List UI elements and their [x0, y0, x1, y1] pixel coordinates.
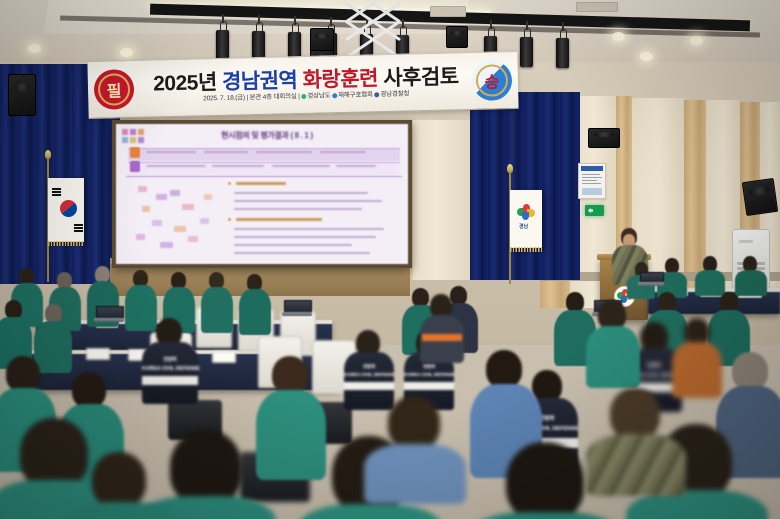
wall-speaker — [742, 178, 778, 216]
wall-speaker — [8, 74, 36, 116]
slide-logo — [122, 129, 152, 145]
vest-label-en: KOREA CIVIL DEFENSE — [142, 366, 198, 372]
wall-panel-light — [404, 120, 470, 280]
banner-org-2: 재해구호협회 — [338, 91, 373, 99]
banner-org-1: 경상남도 — [307, 92, 330, 100]
exit-sign-icon — [585, 205, 604, 216]
wall-speaker — [588, 128, 620, 148]
ceiling-vent — [430, 6, 466, 17]
banner-org-3: 경남경찰청 — [380, 90, 409, 98]
screenshot-root: 필 승 2025년 경남권역 화랑훈련 사후검토 2025. 7. 18.(금)… — [0, 0, 780, 519]
laptop — [640, 272, 662, 286]
downlight — [612, 32, 625, 41]
vest-label-ko: 민방위 — [344, 364, 394, 370]
projection-screen-frame: 현시점의 및 평가결과 ( II . 1 ) — [112, 120, 412, 268]
notice-header — [581, 166, 603, 171]
laptop — [284, 300, 310, 316]
vest-label-ko: 민방위 — [404, 364, 454, 370]
stage-light — [520, 37, 533, 67]
downlight — [690, 36, 703, 45]
vest-label-en: KOREA CIVIL DEFENSE — [344, 373, 394, 378]
ceiling-speaker — [310, 28, 334, 52]
event-banner: 필 승 2025년 경남권역 화랑훈련 사후검토 2025. 7. 18.(금)… — [87, 51, 518, 119]
ceiling-speaker — [446, 26, 468, 48]
slide-title: 현시점의 및 평가결과 ( II . 1 ) — [166, 130, 368, 141]
seal-pil: 필 — [94, 69, 135, 110]
wall-notice — [578, 163, 606, 199]
vest-label-ko: 민방위 — [142, 356, 198, 363]
banner-subtitle-text: 2025. 7. 18.(금) | 본관 4층 대회의실 | — [203, 93, 300, 102]
nameplate — [86, 348, 110, 360]
stage-light — [556, 38, 569, 68]
ceiling-vent — [576, 2, 618, 12]
downlight — [28, 44, 41, 53]
downlight — [640, 52, 653, 61]
seal-pil-char: 필 — [94, 69, 135, 110]
nameplate — [212, 351, 236, 363]
stage-light — [216, 30, 229, 60]
seal-seung-char: 승 — [471, 60, 512, 101]
projection-screen: 현시점의 및 평가결과 ( II . 1 ) — [116, 124, 408, 264]
vest-label-en: KOREA CIVIL DEFENSE — [404, 373, 454, 378]
laptop — [96, 306, 122, 322]
seal-seung: 승 — [471, 60, 512, 101]
downlight — [120, 48, 133, 57]
